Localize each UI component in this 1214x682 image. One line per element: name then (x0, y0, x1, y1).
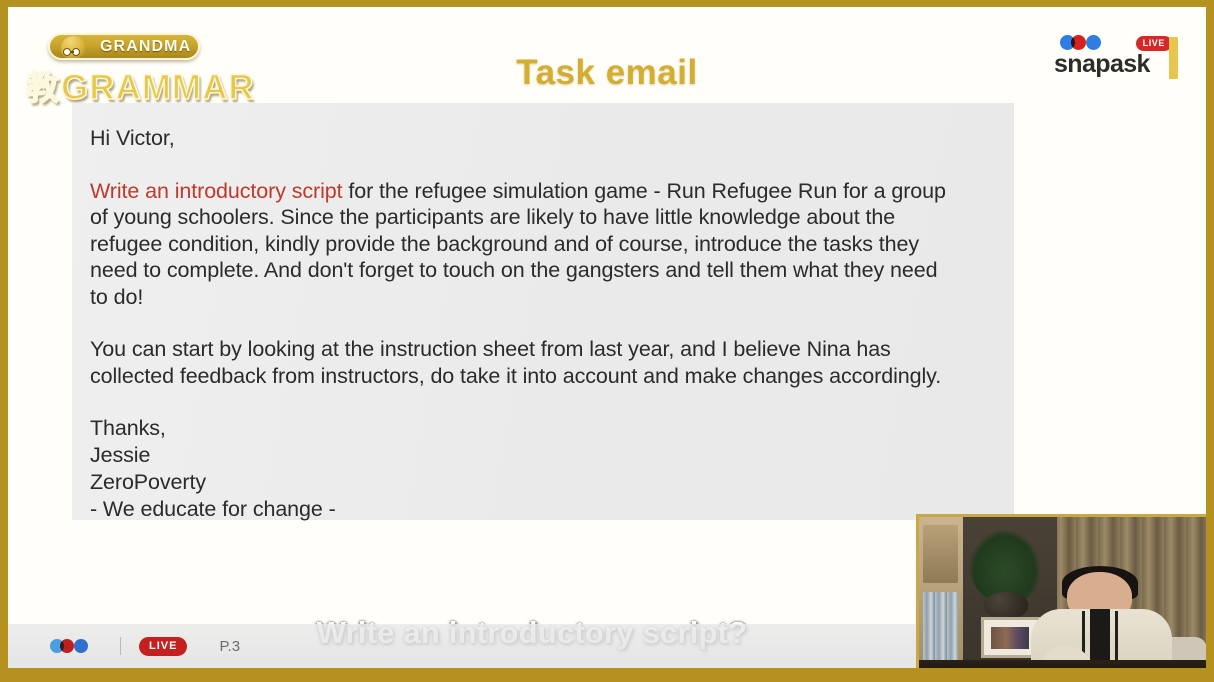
email-line: refugee condition, kindly provide the ba… (90, 231, 986, 258)
email-body-panel: Hi Victor, Write an introductory script … (72, 103, 1014, 520)
gold-accent-bar (1169, 37, 1178, 79)
email-line: ZeroPoverty (90, 469, 986, 496)
webcam-person (1031, 566, 1172, 668)
email-line: - We educate for change - (90, 496, 986, 523)
email-highlight-phrase: Write an introductory script (90, 179, 343, 203)
snapask-logo: snapask LIVE (1054, 35, 1164, 83)
page-number: P.3 (219, 638, 240, 655)
email-line-rest: for the refugee simulation game - Run Re… (343, 179, 946, 203)
slide-canvas: GRANDMA 教GRAMMAR Task email snapask LIVE… (8, 7, 1206, 668)
snapask-wordmark: snapask (1054, 50, 1150, 79)
email-line: need to complete. And don't forget to to… (90, 257, 986, 284)
email-spacer (90, 152, 986, 178)
footer-live-badge: LIVE (139, 637, 187, 656)
email-signature: Thanks, Jessie ZeroPoverty - We educate … (90, 415, 986, 523)
email-line: Jessie (90, 442, 986, 469)
page-title: Task email (8, 53, 1206, 93)
webcam-plant-pot (984, 592, 1028, 620)
email-line: Write an introductory script for the ref… (90, 178, 986, 205)
header-live-badge: LIVE (1136, 36, 1172, 51)
slide-stage: GRANDMA 教GRAMMAR Task email snapask LIVE… (0, 0, 1214, 682)
footer-divider (120, 637, 121, 655)
snapask-dots-icon (1060, 35, 1118, 50)
email-line: collected feedback from instructors, do … (90, 363, 986, 390)
instructor-webcam-feed[interactable] (916, 514, 1206, 668)
email-line: You can start by looking at the instruct… (90, 336, 986, 363)
email-line: Thanks, (90, 415, 986, 442)
webcam-desk (919, 660, 1206, 668)
webcam-bookshelf (919, 517, 963, 668)
email-line: to do! (90, 284, 986, 311)
email-paragraph-2: You can start by looking at the instruct… (90, 336, 986, 389)
snapask-dots-icon (50, 639, 102, 653)
email-greeting: Hi Victor, (90, 125, 986, 152)
email-paragraph-1: Write an introductory script for the ref… (90, 178, 986, 311)
email-line: of young schoolers. Since the participan… (90, 204, 986, 231)
